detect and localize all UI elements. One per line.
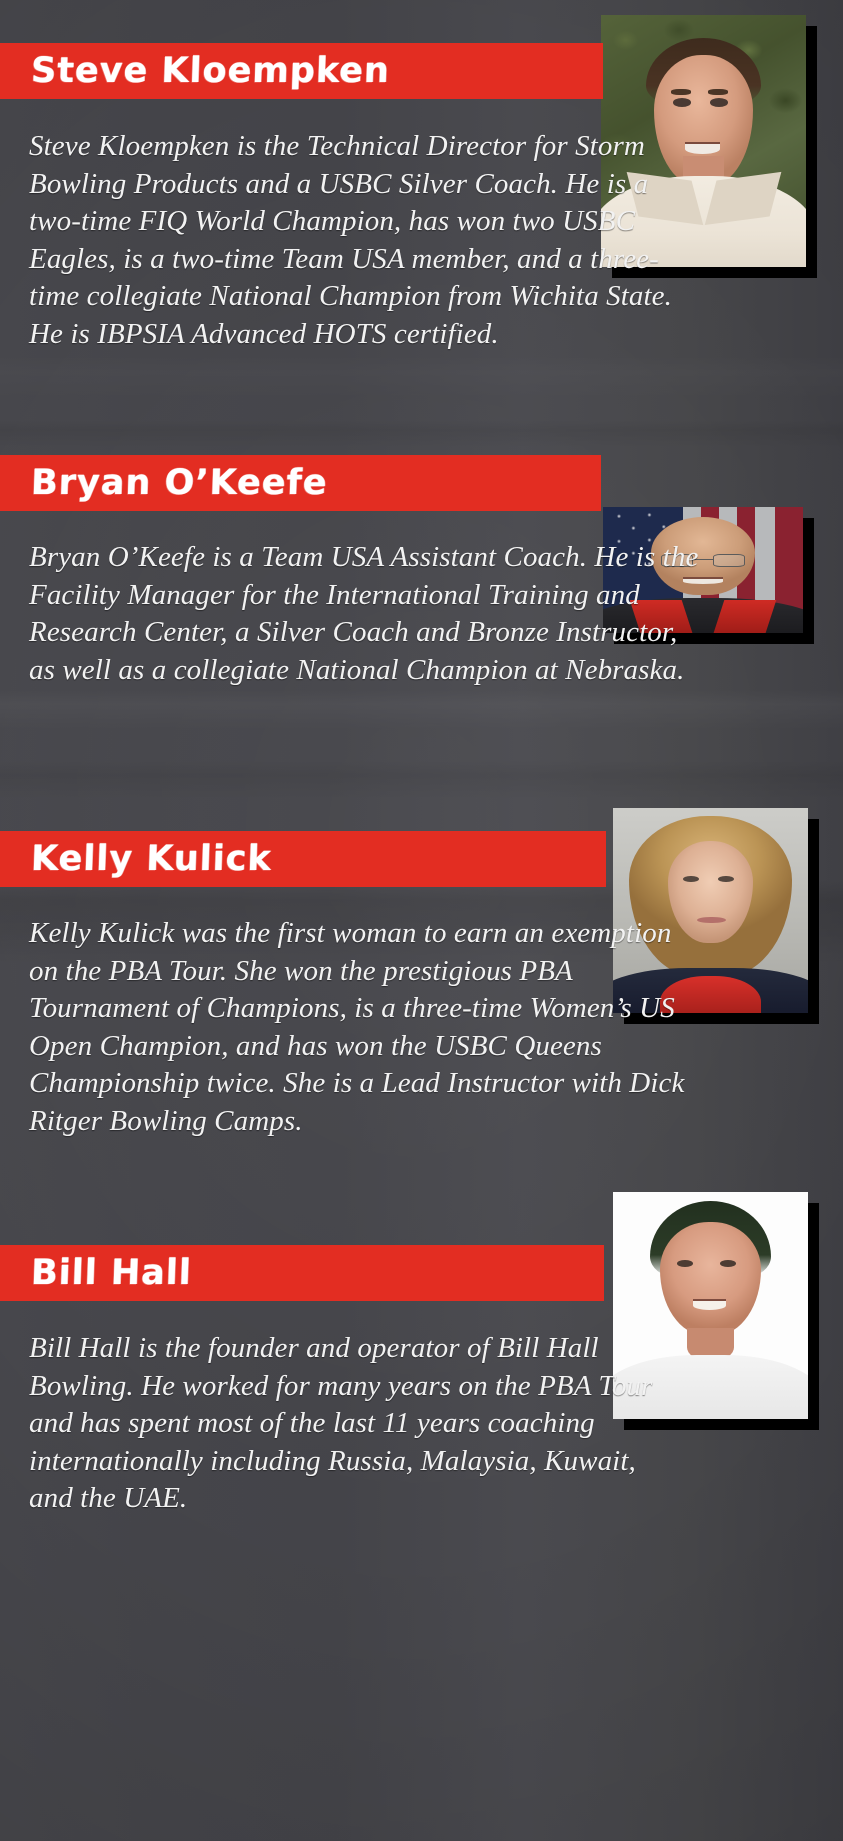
- coach-bios-slide: Steve Kloempken Steve Kloempken is the T…: [0, 0, 843, 1841]
- coach-bio-steve-kloempken: Steve Kloempken is the Technical Directo…: [29, 128, 684, 353]
- coach-name-steve-kloempken: Steve Kloempken: [30, 51, 390, 91]
- coach-bio-bryan-okeefe: Bryan O’Keefe is a Team USA Assistant Co…: [29, 539, 701, 689]
- coach-name-banner-steve-kloempken: Steve Kloempken: [0, 43, 603, 99]
- coach-name-kelly-kulick: Kelly Kulick: [30, 839, 272, 879]
- coach-name-banner-bryan-okeefe: Bryan O’Keefe: [0, 455, 601, 511]
- coach-name-bryan-okeefe: Bryan O’Keefe: [30, 463, 328, 503]
- coach-bio-bill-hall: Bill Hall is the founder and operator of…: [29, 1330, 674, 1518]
- coach-name-bill-hall: Bill Hall: [30, 1253, 192, 1293]
- coach-bio-kelly-kulick: Kelly Kulick was the first woman to earn…: [29, 915, 701, 1140]
- coach-name-banner-kelly-kulick: Kelly Kulick: [0, 831, 606, 887]
- coach-name-banner-bill-hall: Bill Hall: [0, 1245, 604, 1301]
